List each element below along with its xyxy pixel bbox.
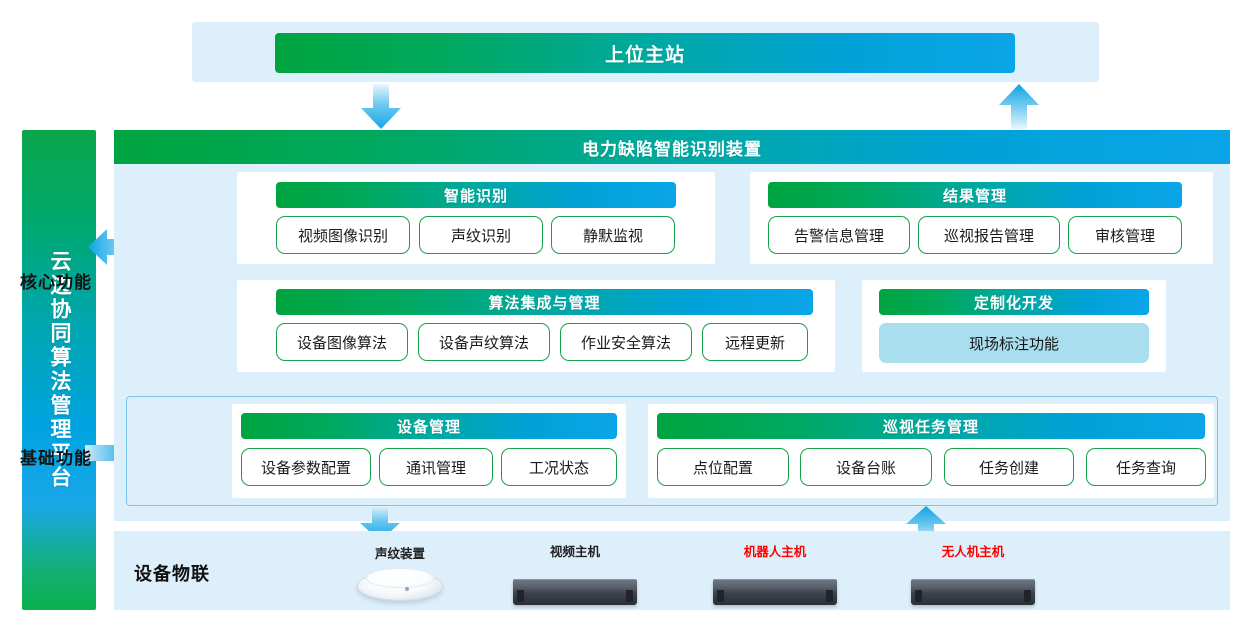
arrow-device-to-master-icon [998,84,1040,130]
core-item-inspection-report-management[interactable]: 巡视报告管理 [918,216,1060,254]
architecture-diagram: 上位主站 [0,0,1259,634]
core-item-device-voiceprint-algorithm[interactable]: 设备声纹算法 [418,323,550,361]
iot-device-name-robot-host: 机器人主机 [705,541,845,560]
iot-section-label: 设备物联 [134,560,210,586]
core-item-video-image-recognition[interactable]: 视频图像识别 [276,216,410,254]
basic-group-title-device-management: 设备管理 [241,413,617,439]
master-station-banner[interactable]: 上位主站 [275,33,1015,73]
dome-sensor-icon [357,567,443,605]
core-item-work-safety-algorithm[interactable]: 作业安全算法 [560,323,692,361]
rack-server-icon [713,579,837,605]
basic-item-working-status[interactable]: 工况状态 [501,448,617,486]
core-item-onsite-annotation[interactable]: 现场标注功能 [879,323,1149,363]
core-item-device-image-algorithm[interactable]: 设备图像算法 [276,323,408,361]
basic-item-task-query[interactable]: 任务查询 [1086,448,1206,486]
core-item-silent-monitoring[interactable]: 静默监视 [551,216,675,254]
core-group-card-intelligent-recognition: 智能识别 视频图像识别 声纹识别 静默监视 [237,172,715,264]
core-group-title-algorithm-integration: 算法集成与管理 [276,289,813,315]
device-title-bar: 电力缺陷智能识别装置 [114,130,1230,164]
iot-device-name-video-host: 视频主机 [505,541,645,560]
platform-panel[interactable]: 云边协同算法管理平台 [22,130,96,610]
basic-item-task-creation[interactable]: 任务创建 [944,448,1074,486]
core-item-audit-management[interactable]: 审核管理 [1068,216,1182,254]
core-functions-label: 核心功能 [20,268,92,293]
core-group-title-custom-development: 定制化开发 [879,289,1149,315]
core-group-title-result-management: 结果管理 [768,182,1182,208]
basic-item-point-config[interactable]: 点位配置 [657,448,789,486]
rack-server-icon [513,579,637,605]
arrow-master-to-device-icon [360,84,402,130]
basic-item-device-parameter-config[interactable]: 设备参数配置 [241,448,371,486]
core-item-remote-update[interactable]: 远程更新 [702,323,808,361]
basic-item-device-ledger[interactable]: 设备台账 [800,448,932,486]
iot-device-name-voiceprint: 声纹装置 [340,543,460,562]
core-group-card-result-management: 结果管理 告警信息管理 巡视报告管理 审核管理 [750,172,1213,264]
basic-group-card-device-management: 设备管理 设备参数配置 通讯管理 工况状态 [232,404,626,498]
core-item-alarm-info-management[interactable]: 告警信息管理 [768,216,910,254]
basic-item-communication-management[interactable]: 通讯管理 [379,448,493,486]
basic-group-card-inspection-task-management: 巡视任务管理 点位配置 设备台账 任务创建 任务查询 [648,404,1214,498]
core-group-card-algorithm-integration: 算法集成与管理 设备图像算法 设备声纹算法 作业安全算法 远程更新 [237,280,835,372]
iot-device-video-host[interactable]: 视频主机 [505,541,645,605]
iot-device-drone-host[interactable]: 无人机主机 [903,541,1043,605]
basic-functions-label: 基础功能 [20,444,92,469]
iot-device-robot-host[interactable]: 机器人主机 [705,541,845,605]
basic-group-title-inspection-task-management: 巡视任务管理 [657,413,1205,439]
core-item-voiceprint-recognition[interactable]: 声纹识别 [419,216,543,254]
iot-device-name-drone-host: 无人机主机 [903,541,1043,560]
rack-server-icon [911,579,1035,605]
core-group-card-custom-development: 定制化开发 现场标注功能 [862,280,1166,372]
iot-band: 设备物联 声纹装置 视频主机 机器人主机 无人机主机 [114,531,1230,610]
iot-device-voiceprint[interactable]: 声纹装置 [340,543,460,605]
master-station-container: 上位主站 [192,22,1099,82]
core-group-title-intelligent-recognition: 智能识别 [276,182,676,208]
